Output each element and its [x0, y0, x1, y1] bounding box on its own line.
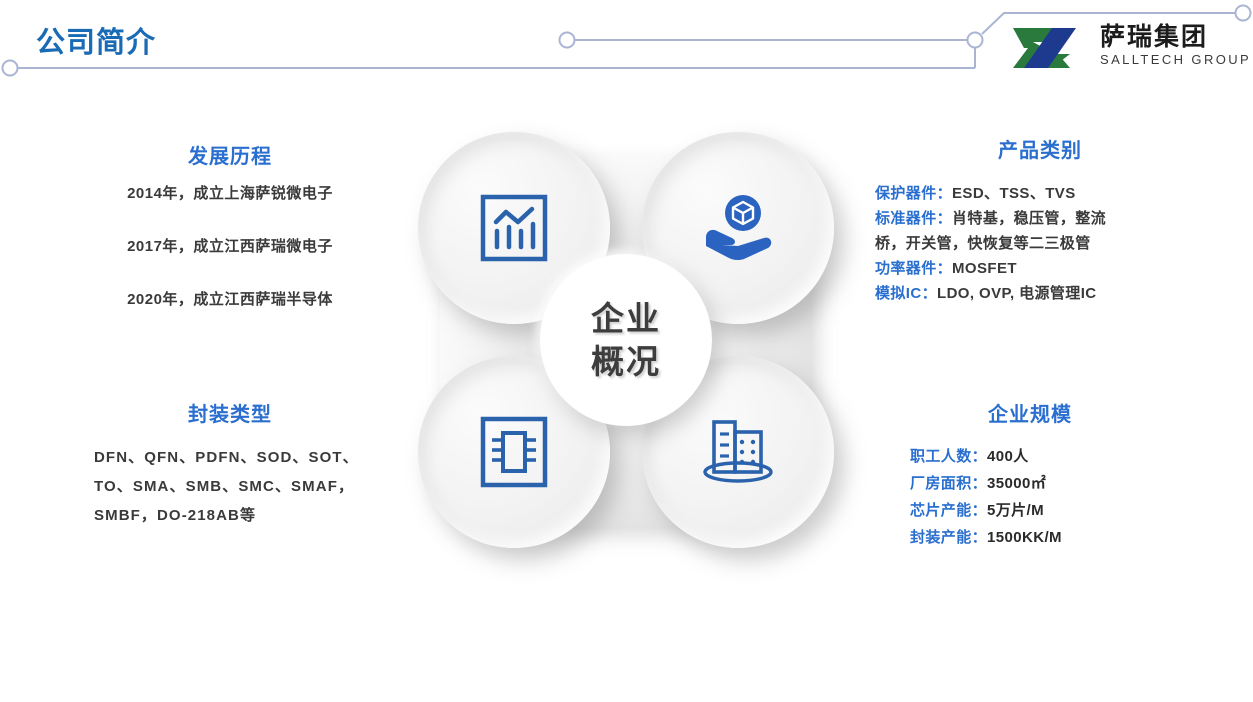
hub-title-line2: 概况 [591, 340, 661, 383]
scale-label: 芯片产能： [910, 502, 987, 519]
hand-holding-box-icon [698, 192, 778, 264]
section-product-categories: 产品类别 保护器件：ESD、TSS、TVS 标准器件：肖特基，稳压管，整流 桥，… [860, 134, 1220, 306]
chip-ic-icon [478, 414, 550, 490]
scale-value: 35000㎡ [987, 475, 1046, 492]
logo-mark-icon [1008, 24, 1092, 72]
product-category-row: 模拟IC：LDO, OVP, 电源管理IC [860, 281, 1220, 306]
history-item: 2020年，成立江西萨瑞半导体 [60, 289, 400, 311]
product-category-value: LDO, OVP, 电源管理IC [937, 285, 1096, 302]
product-category-value: 桥，开关管，快恢复等二三极管 [875, 235, 1091, 252]
scale-row: 芯片产能：5万片/M [880, 497, 1180, 524]
buildings-icon [698, 415, 778, 489]
scale-row: 封装产能：1500KK/M [880, 524, 1180, 551]
scale-label: 职工人数： [910, 448, 987, 465]
history-item: 2014年，成立上海萨锐微电子 [60, 183, 400, 205]
section-title-package: 封装类型 [60, 398, 400, 427]
logo-chinese-name: 萨瑞集团 [1100, 22, 1246, 52]
scale-value: 1500KK/M [987, 529, 1062, 546]
section-title-products: 产品类别 [860, 134, 1220, 163]
product-category-value: ESD、TSS、TVS [952, 185, 1076, 202]
product-category-label: 模拟IC： [875, 285, 937, 302]
growth-chart-icon [478, 192, 550, 264]
section-development-history: 发展历程 2014年，成立上海萨锐微电子 2017年，成立江西萨瑞微电子 202… [60, 140, 400, 342]
hub-title-line1: 企业 [591, 297, 661, 340]
product-category-label: 保护器件： [875, 185, 952, 202]
section-title-scale: 企业规模 [880, 398, 1180, 427]
scale-value: 400人 [987, 448, 1029, 465]
scale-row: 职工人数：400人 [880, 443, 1180, 470]
product-category-label: 标准器件： [875, 210, 952, 227]
logo-english-name: SALLTECH GROUP [1100, 52, 1246, 68]
section-package-types: 封装类型 DFN、QFN、PDFN、SOD、SOT、TO、SMA、SMB、SMC… [60, 398, 400, 530]
product-category-row: 标准器件：肖特基，稳压管，整流 [860, 206, 1220, 231]
scale-label: 厂房面积： [910, 475, 987, 492]
scale-value: 5万片/M [987, 502, 1044, 519]
enterprise-overview-diagram: 企业 概况 [412, 126, 840, 554]
product-category-row: 功率器件：MOSFET [860, 256, 1220, 281]
page-title: 公司简介 [36, 19, 156, 61]
product-category-row-continued: 桥，开关管，快恢复等二三极管 [860, 231, 1220, 256]
scale-list: 职工人数：400人 厂房面积：35000㎡ 芯片产能：5万片/M 封装产能：15… [880, 443, 1180, 551]
product-category-label: 功率器件： [875, 260, 952, 277]
product-category-value: MOSFET [952, 260, 1017, 277]
product-category-row: 保护器件：ESD、TSS、TVS [860, 181, 1220, 206]
product-category-value: 肖特基，稳压管，整流 [952, 210, 1106, 227]
company-logo: 萨瑞集团 SALLTECH GROUP [1008, 22, 1244, 78]
package-types-text: DFN、QFN、PDFN、SOD、SOT、TO、SMA、SMB、SMC、SMAF… [60, 443, 400, 530]
history-list: 2014年，成立上海萨锐微电子 2017年，成立江西萨瑞微电子 2020年，成立… [60, 183, 400, 311]
section-title-history: 发展历程 [60, 140, 400, 169]
section-enterprise-scale: 企业规模 职工人数：400人 厂房面积：35000㎡ 芯片产能：5万片/M 封装… [880, 398, 1180, 551]
scale-row: 厂房面积：35000㎡ [880, 470, 1180, 497]
history-item: 2017年，成立江西萨瑞微电子 [60, 236, 400, 258]
logo-text: 萨瑞集团 SALLTECH GROUP [1100, 22, 1246, 68]
product-category-list: 保护器件：ESD、TSS、TVS 标准器件：肖特基，稳压管，整流 桥，开关管，快… [860, 181, 1220, 306]
diagram-center-hub: 企业 概况 [540, 254, 712, 426]
scale-label: 封装产能： [910, 529, 987, 546]
